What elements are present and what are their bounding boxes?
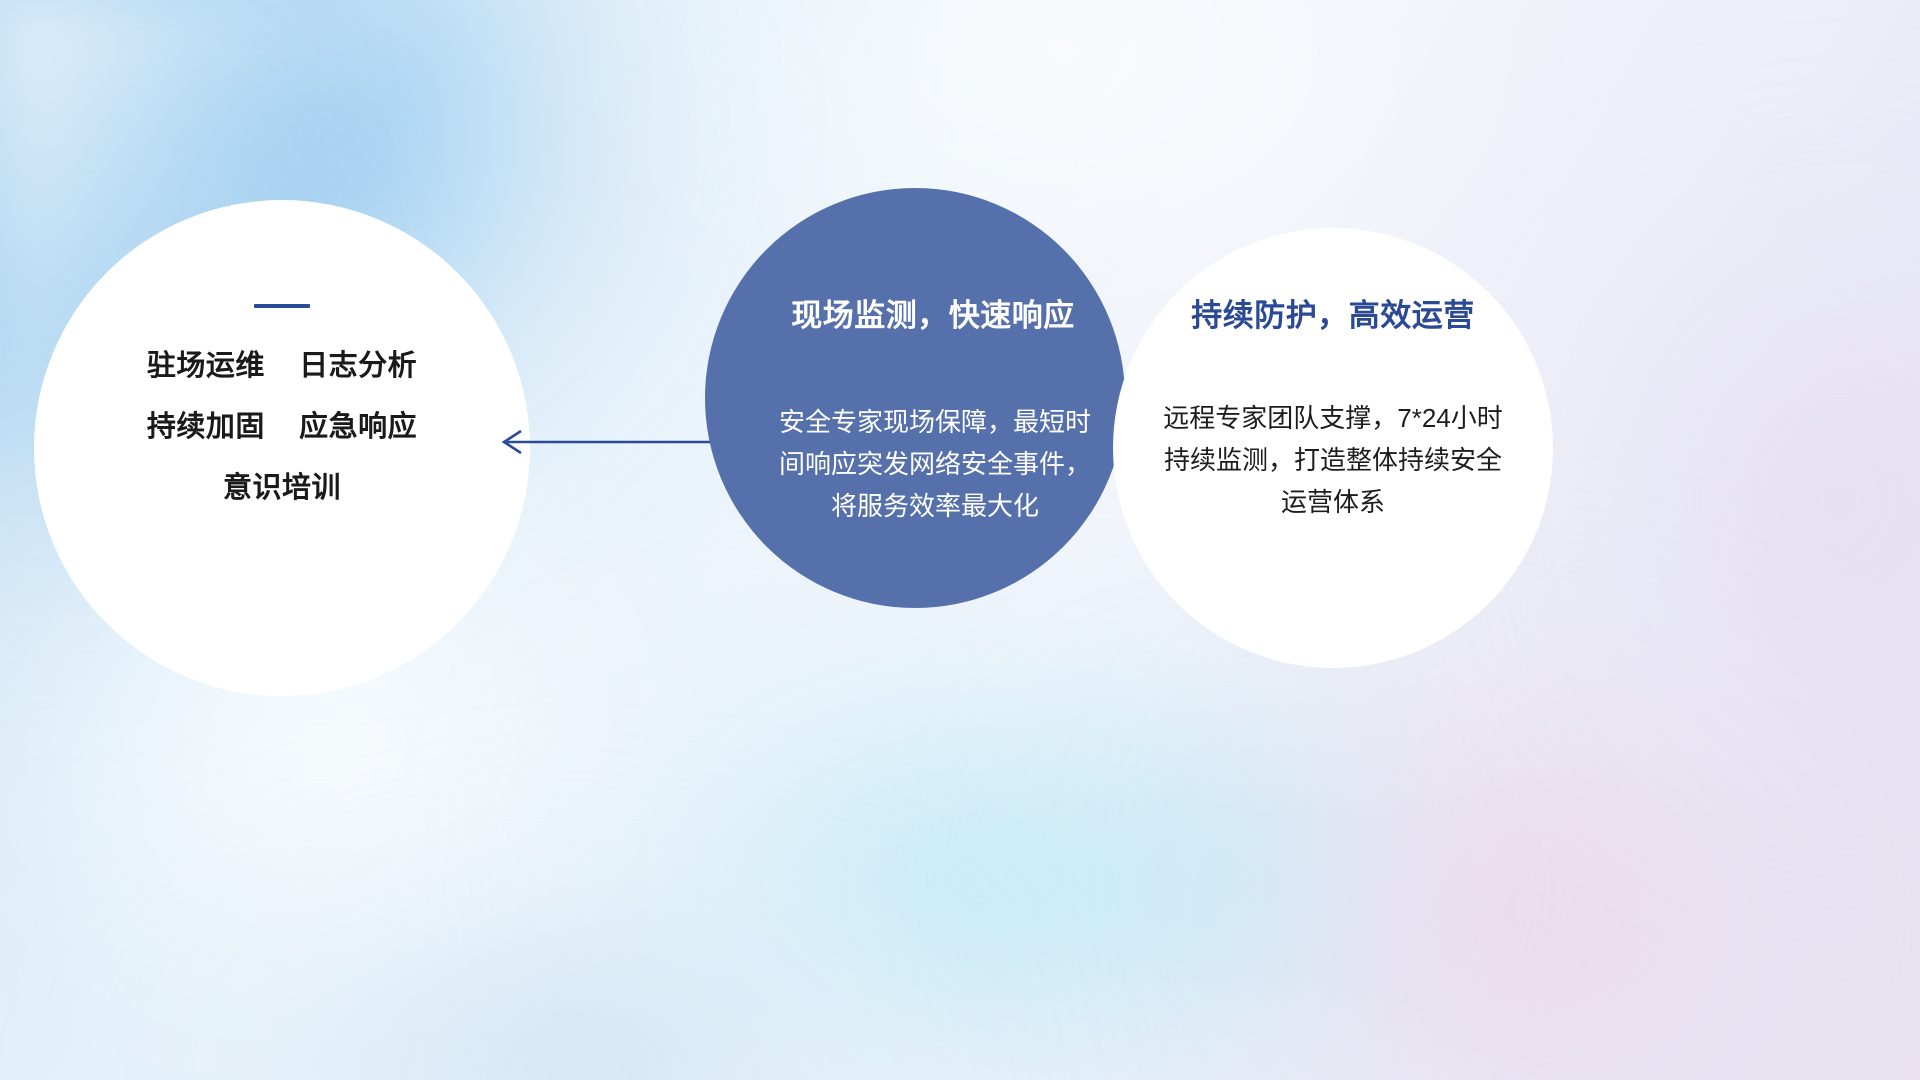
divider-dash-icon xyxy=(254,304,310,308)
capabilities-circle[interactable]: 驻场运维 日志分析 持续加固 应急响应 意识培训 xyxy=(34,200,530,696)
continuous-protection-body: 远程专家团队支撑，7*24小时持续监测，打造整体持续安全运营体系 xyxy=(1157,397,1509,523)
arrow-left-icon xyxy=(497,425,712,459)
capability-line-1: 驻场运维 日志分析 xyxy=(34,352,530,381)
onsite-monitoring-title: 现场监测，快速响应 xyxy=(723,290,1143,335)
capability-line-3: 意识培训 xyxy=(34,474,530,503)
continuous-protection-title: 持续防护，高效运营 xyxy=(1113,290,1553,335)
capabilities-content: 驻场运维 日志分析 持续加固 应急响应 意识培训 xyxy=(34,304,530,503)
slide-canvas: 驻场运维 日志分析 持续加固 应急响应 意识培训 现场监测，快速响应 安全专家现… xyxy=(0,0,1920,1080)
onsite-monitoring-content: 现场监测，快速响应 安全专家现场保障，最短时间响应突发网络安全事件，将服务效率最… xyxy=(705,290,1125,527)
flow-arrow-left xyxy=(497,425,712,459)
continuous-protection-content: 持续防护，高效运营 远程专家团队支撑，7*24小时持续监测，打造整体持续安全运营… xyxy=(1113,290,1553,523)
capability-line-2: 持续加固 应急响应 xyxy=(34,413,530,442)
onsite-monitoring-body: 安全专家现场保障，最短时间响应突发网络安全事件，将服务效率最大化 xyxy=(779,401,1091,527)
